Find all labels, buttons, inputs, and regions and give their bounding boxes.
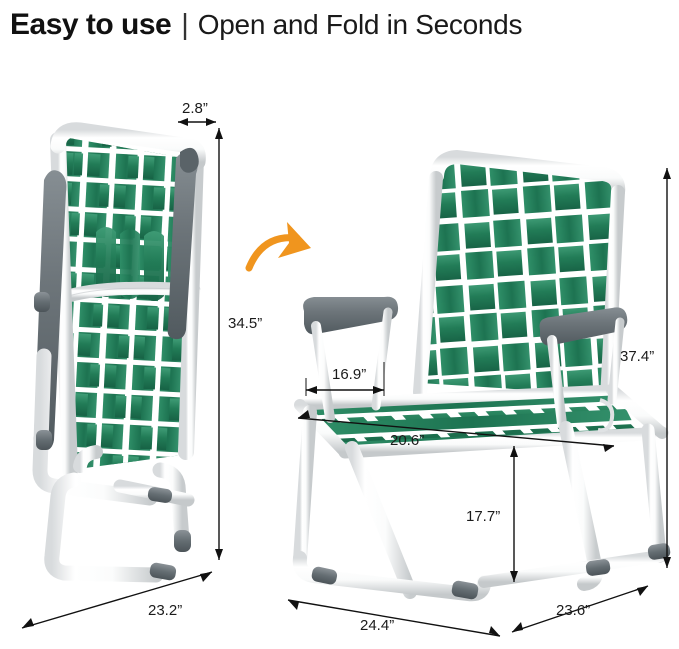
leg-rear-left — [352, 448, 410, 592]
dim-label-armrest-height: 16.9” — [332, 366, 366, 383]
dim-label-seat-height: 17.7” — [466, 508, 500, 525]
infographic-page: Easy to use | Open and Fold in Seconds — [0, 0, 679, 649]
leg-rear-right — [648, 430, 660, 556]
dim-label-folded-height: 34.5” — [228, 315, 262, 332]
open-chair-foot-caps — [311, 542, 672, 600]
dim-label-folded-thickness: 2.8” — [182, 100, 208, 117]
foot-rail-rear — [484, 556, 660, 582]
product-illustration — [0, 0, 679, 649]
dim-label-seat-depth: 20.6” — [390, 432, 424, 449]
dim-label-total-width: 24.4” — [360, 617, 394, 634]
folded-armrest-hook — [180, 148, 199, 173]
dim-label-total-height: 37.4” — [620, 348, 654, 365]
leg-front-right — [566, 428, 596, 570]
dim-label-folded-width: 23.2” — [148, 602, 182, 619]
leg-front-left — [300, 412, 310, 560]
dim-label-total-depth: 23.6” — [556, 602, 590, 619]
fold-transition-arrow — [249, 222, 311, 268]
folded-chair — [30, 106, 232, 581]
